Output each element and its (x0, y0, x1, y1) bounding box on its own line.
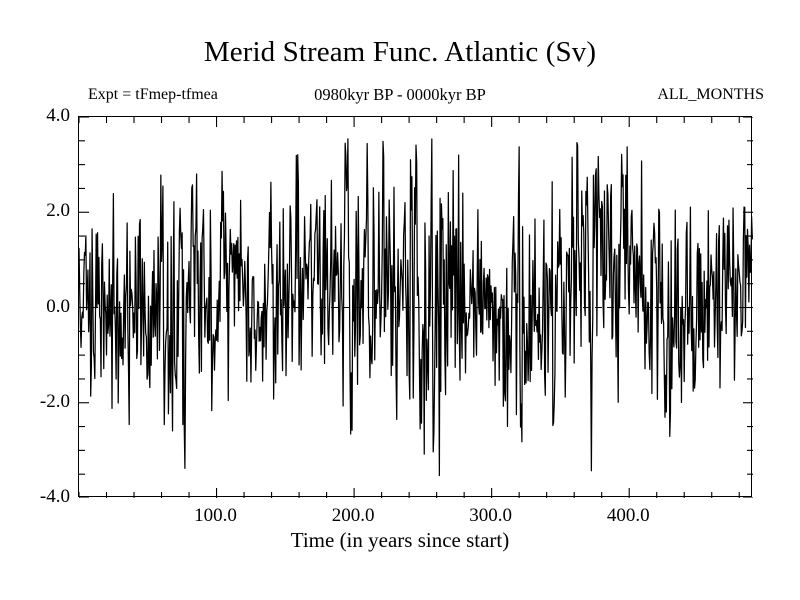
x-axis-title: Time (in years since start) (0, 528, 800, 553)
x-tick-label: 200.0 (308, 505, 398, 527)
page-title: Merid Stream Func. Atlantic (Sv) (0, 36, 800, 69)
months-label: ALL_MONTHS (0, 86, 764, 104)
plot-svg (79, 117, 753, 498)
y-tick-label: 0.0 (10, 297, 70, 316)
x-tick-label: 400.0 (583, 505, 673, 527)
y-tick-label: 2.0 (10, 201, 70, 220)
y-tick-label: -2.0 (10, 392, 70, 411)
figure-canvas: Merid Stream Func. Atlantic (Sv) Expt = … (0, 0, 800, 600)
y-tick-label: -4.0 (10, 487, 70, 506)
plot-area (78, 116, 752, 497)
y-tick-label: 4.0 (10, 106, 70, 125)
x-tick-label: 100.0 (171, 505, 261, 527)
x-tick-label: 300.0 (446, 505, 536, 527)
